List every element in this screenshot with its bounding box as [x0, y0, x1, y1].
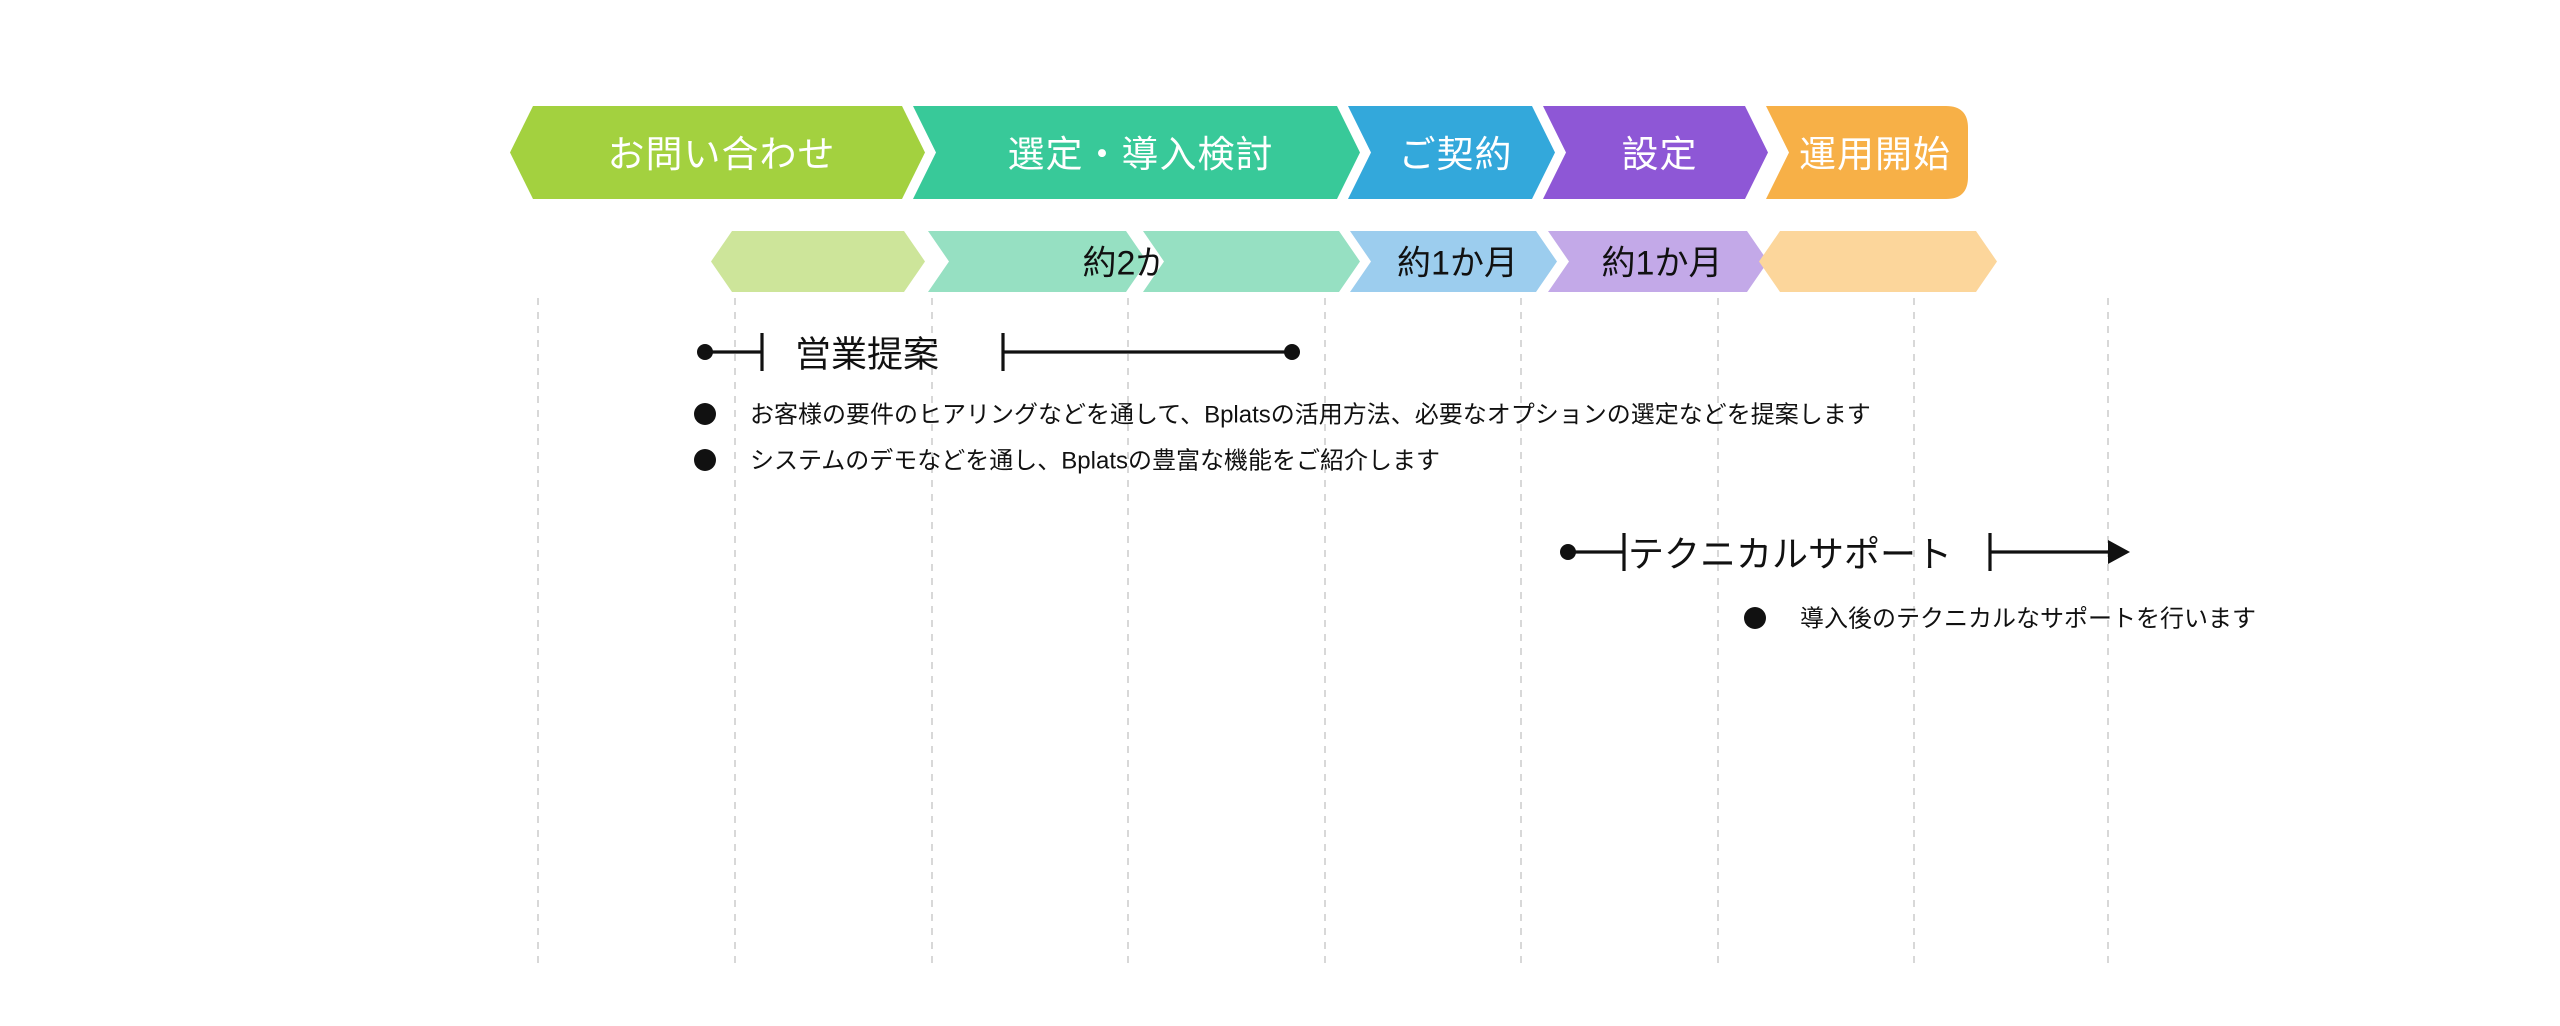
- phase-label-0: お問い合わせ: [608, 134, 836, 175]
- annotation-title-1: テクニカルサポート: [1628, 534, 1952, 575]
- timeline-canvas: 約2か月約1か月約1か月 お問い合わせ選定・導入検討ご契約設定運用開始 営業提案…: [0, 0, 2560, 1026]
- bullet-text: 導入後のテクニカルなサポートを行います: [1800, 606, 2256, 633]
- bullet-dot-icon: [1744, 607, 1766, 629]
- gridlines: [538, 298, 2108, 968]
- phase-chevron-4[interactable]: 運用開始: [1766, 106, 1968, 199]
- annotation-title-0: 営業提案: [795, 334, 939, 375]
- bullet-dot-icon: [694, 449, 716, 471]
- duration-label-3: 約1か月: [1397, 245, 1518, 283]
- phase-label-2: ご契約: [1399, 134, 1513, 175]
- phase-label-1: 選定・導入検討: [1008, 134, 1274, 175]
- annotation-end-dot-0: [1284, 344, 1300, 360]
- duration-shape-5: [1759, 231, 1997, 292]
- timeline-svg: 約2か月約1か月約1か月 お問い合わせ選定・導入検討ご契約設定運用開始 営業提案…: [0, 0, 2560, 1026]
- duration-chevron-5: [1759, 231, 1997, 292]
- annotation-0: 営業提案お客様の要件のヒアリングなどを通して、Bplatsの活用方法、必要なオプ…: [694, 333, 1871, 475]
- annotation-1: テクニカルサポート導入後のテクニカルなサポートを行います: [1560, 533, 2256, 633]
- bullet-item: お客様の要件のヒアリングなどを通して、Bplatsの活用方法、必要なオプションの…: [694, 402, 1871, 429]
- duration-chevron-2: [1143, 231, 1360, 292]
- bullet-item: システムのデモなどを通し、Bplatsの豊富な機能をご紹介します: [694, 448, 1440, 475]
- annotation-rows: 営業提案お客様の要件のヒアリングなどを通して、Bplatsの活用方法、必要なオプ…: [694, 333, 2256, 633]
- phase-chevron-1[interactable]: 選定・導入検討: [913, 106, 1360, 199]
- phase-chevron-0[interactable]: お問い合わせ: [510, 106, 925, 199]
- bullet-text: システムのデモなどを通し、Bplatsの豊富な機能をご紹介します: [750, 448, 1440, 475]
- bullet-item: 導入後のテクニカルなサポートを行います: [1744, 606, 2256, 633]
- duration-chevron-4: 約1か月: [1548, 231, 1768, 292]
- bullet-text: お客様の要件のヒアリングなどを通して、Bplatsの活用方法、必要なオプションの…: [750, 402, 1871, 429]
- duration-chevron-0: [711, 231, 925, 292]
- bullet-dot-icon: [694, 403, 716, 425]
- duration-label-4: 約1か月: [1602, 245, 1723, 283]
- phase-label-3: 設定: [1622, 134, 1698, 175]
- duration-chevron-3: 約1か月: [1350, 231, 1557, 292]
- phase-chevron-3[interactable]: 設定: [1543, 106, 1768, 199]
- duration-bar-row: 約2か月約1か月約1か月: [711, 231, 1997, 292]
- duration-shape-2: [1143, 231, 1360, 292]
- phase-label-4: 運用開始: [1799, 134, 1951, 175]
- duration-shape-0: [711, 231, 925, 292]
- phase-chevron-2[interactable]: ご契約: [1348, 106, 1555, 199]
- phase-chevron-row: お問い合わせ選定・導入検討ご契約設定運用開始: [510, 106, 1968, 199]
- annotation-arrowhead-1: [2108, 540, 2130, 564]
